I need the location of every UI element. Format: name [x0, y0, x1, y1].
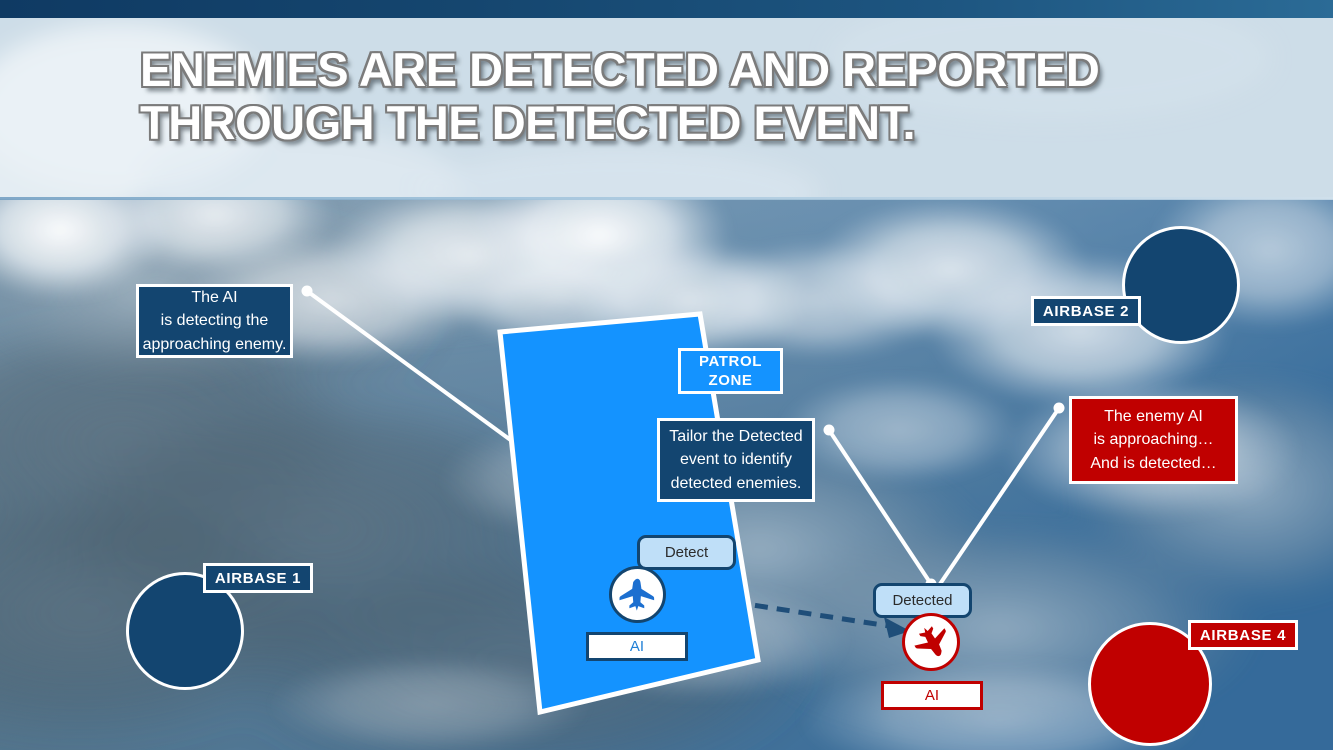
detect-event-node[interactable]: Detect — [637, 535, 736, 570]
friendly-jet-badge[interactable] — [609, 566, 666, 623]
top-accent-strip — [0, 0, 1333, 18]
airbase-2-label[interactable]: AIRBASE 2 — [1031, 296, 1141, 326]
callout-tailor-detected[interactable]: Tailor the Detected event to identify de… — [657, 418, 815, 502]
patrol-zone-label[interactable]: PATROL ZONE — [678, 348, 783, 394]
airbase-1-label[interactable]: AIRBASE 1 — [203, 563, 313, 593]
friendly-ai-label[interactable]: AI — [586, 632, 688, 661]
page-title: ENEMIES ARE DETECTED AND REPORTED THROUG… — [140, 44, 1260, 149]
header-divider — [0, 197, 1333, 200]
fighter-jet-icon — [911, 622, 951, 662]
airbase-2-circle[interactable] — [1122, 226, 1240, 344]
callout-tailor-detected-text: Tailor the Detected event to identify de… — [669, 425, 802, 495]
callout-ai-detecting-text: The AI is detecting the approaching enem… — [143, 286, 287, 356]
detected-event-node[interactable]: Detected — [873, 583, 972, 618]
slide-canvas: ENEMIES ARE DETECTED AND REPORTED THROUG… — [0, 0, 1333, 750]
airbase-4-label-text: AIRBASE 4 — [1200, 627, 1286, 644]
enemy-jet-badge[interactable] — [902, 613, 960, 671]
callout-enemy-ai-text: The enemy AI is approaching… And is dete… — [1090, 405, 1216, 475]
airbase-4-label[interactable]: AIRBASE 4 — [1188, 620, 1298, 650]
callout-enemy-ai[interactable]: The enemy AI is approaching… And is dete… — [1069, 396, 1238, 484]
fighter-jet-icon — [618, 575, 658, 615]
detect-event-label: Detect — [665, 544, 708, 561]
callout-ai-detecting[interactable]: The AI is detecting the approaching enem… — [136, 284, 293, 358]
enemy-ai-label[interactable]: AI — [881, 681, 983, 710]
patrol-zone-label-text: PATROL ZONE — [699, 352, 762, 391]
enemy-ai-label-text: AI — [925, 687, 939, 704]
detected-event-label: Detected — [892, 592, 952, 609]
friendly-ai-label-text: AI — [630, 638, 644, 655]
airbase-2-label-text: AIRBASE 2 — [1043, 303, 1129, 320]
airbase-1-label-text: AIRBASE 1 — [215, 570, 301, 587]
